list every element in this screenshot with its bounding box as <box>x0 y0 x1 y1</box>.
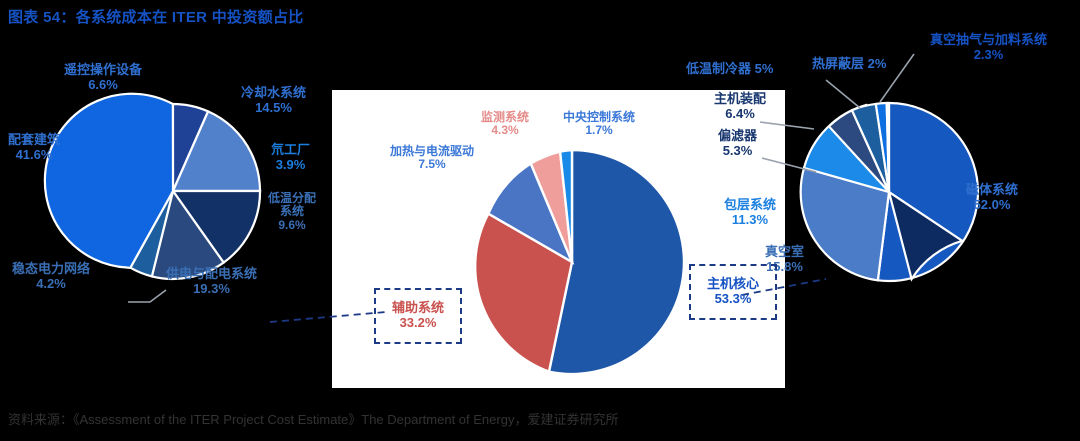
label-thermal-shield: 热屏蔽层 2% <box>812 57 886 72</box>
leader-line-divertor <box>760 148 824 178</box>
label-cryo-distribution: 低温分配系统9.6% <box>268 192 316 232</box>
label-divertor: 偏滤器5.3% <box>718 129 757 158</box>
label-supporting-buildings: 配套建筑41.6% <box>8 133 60 162</box>
label-cryo-refrigerator: 低温制冷器 5% <box>686 62 773 77</box>
leader-line-thermal-shield <box>824 78 870 114</box>
label-cooling-water: 冷却水系统14.5% <box>241 86 306 115</box>
label-remote-handling: 遥控操作设备6.6% <box>64 63 142 92</box>
pie-chart-auxiliary-systems <box>84 102 262 280</box>
label-machine-assembly: 主机装配6.4% <box>714 92 766 121</box>
source-note: 资料来源：《Assessment of the ITER Project Cos… <box>8 409 618 428</box>
label-steady-power-network: 稳态电力网络4.2% <box>12 262 90 291</box>
callout-auxiliary-systems: 辅助系统33.2% <box>374 288 462 344</box>
label-vacuum-pump-fuel: 真空抽气与加料系统2.3% <box>930 33 1047 62</box>
page-title: 图表 54：各系统成本在 ITER 中投资额占比 <box>8 6 304 27</box>
pie-chart-iter-total <box>458 148 686 376</box>
label-heating-current-drive: 加热与电流驱动7.5% <box>390 145 474 172</box>
label-tritium-plant: 氘工厂3.9% <box>271 143 310 172</box>
callout-host-core: 主机核心53.3% <box>689 264 777 320</box>
label-magnet-system: 磁体系统52.0% <box>966 183 1018 212</box>
label-power-supply-distribution: 供电与配电系统19.3% <box>166 267 257 296</box>
leader-line-machine-assembly <box>758 110 822 134</box>
pie-chart-host-core <box>798 101 980 283</box>
label-monitoring-system: 监测系统4.3% <box>481 111 529 138</box>
label-blanket-system: 包层系统11.3% <box>724 198 776 227</box>
label-central-control-system: 中央控制系统1.7% <box>563 111 635 138</box>
